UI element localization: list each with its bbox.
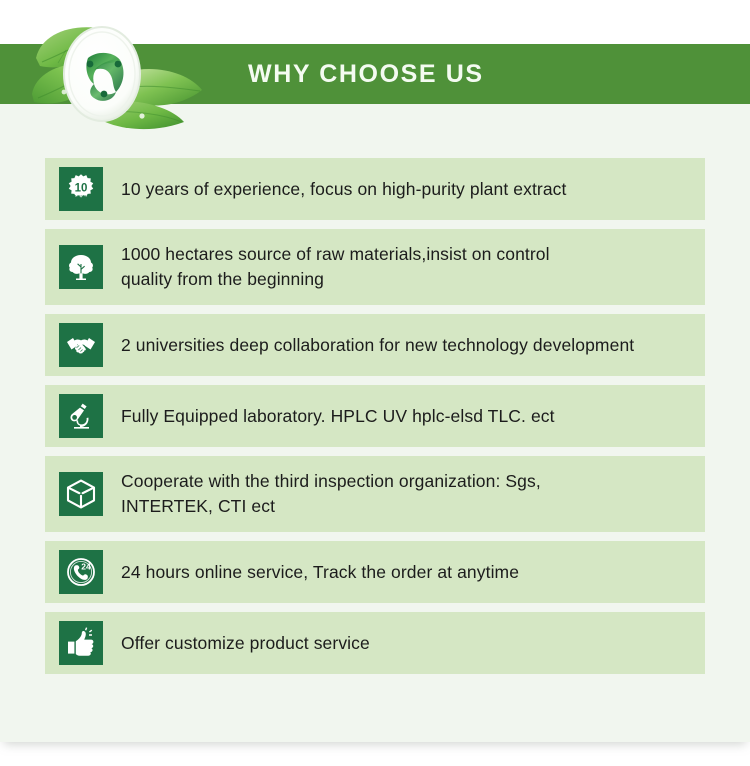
feature-row: Cooperate with the third inspection orga… bbox=[45, 456, 705, 532]
feature-row: 24 24 hours online service, Track the or… bbox=[45, 541, 705, 603]
feature-text: Offer customize product service bbox=[121, 631, 370, 656]
feature-row: 2 universities deep collaboration for ne… bbox=[45, 314, 705, 376]
microscope-icon bbox=[59, 394, 103, 438]
feature-text: 10 years of experience, focus on high-pu… bbox=[121, 177, 567, 202]
thumbs-up-icon bbox=[59, 621, 103, 665]
feature-text: 1000 hectares source of raw materials,in… bbox=[121, 242, 550, 292]
svg-text:years: years bbox=[75, 194, 87, 199]
handshake-icon bbox=[59, 323, 103, 367]
tree-icon bbox=[59, 245, 103, 289]
feature-row: 1000 hectares source of raw materials,in… bbox=[45, 229, 705, 305]
phone-24h-icon: 24 bbox=[59, 550, 103, 594]
cube-box-icon bbox=[59, 472, 103, 516]
company-leaf-logo bbox=[22, 14, 222, 132]
logo-emblem-circle bbox=[64, 27, 140, 121]
svg-text:24: 24 bbox=[81, 562, 91, 572]
why-choose-us-infographic: WHY CHOOSE US 10 years 10 years of exper… bbox=[0, 0, 750, 766]
feature-row: 10 years 10 years of experience, focus o… bbox=[45, 158, 705, 220]
feature-text: 2 universities deep collaboration for ne… bbox=[121, 333, 634, 358]
feature-list: 10 years 10 years of experience, focus o… bbox=[45, 158, 705, 683]
feature-text: 24 hours online service, Track the order… bbox=[121, 560, 519, 585]
feature-row: Fully Equipped laboratory. HPLC UV hplc-… bbox=[45, 385, 705, 447]
feature-row: Offer customize product service bbox=[45, 612, 705, 674]
feature-text: Fully Equipped laboratory. HPLC UV hplc-… bbox=[121, 404, 555, 429]
page-title: WHY CHOOSE US bbox=[248, 44, 484, 104]
ten-years-badge-icon: 10 years bbox=[59, 167, 103, 211]
feature-text: Cooperate with the third inspection orga… bbox=[121, 469, 541, 519]
